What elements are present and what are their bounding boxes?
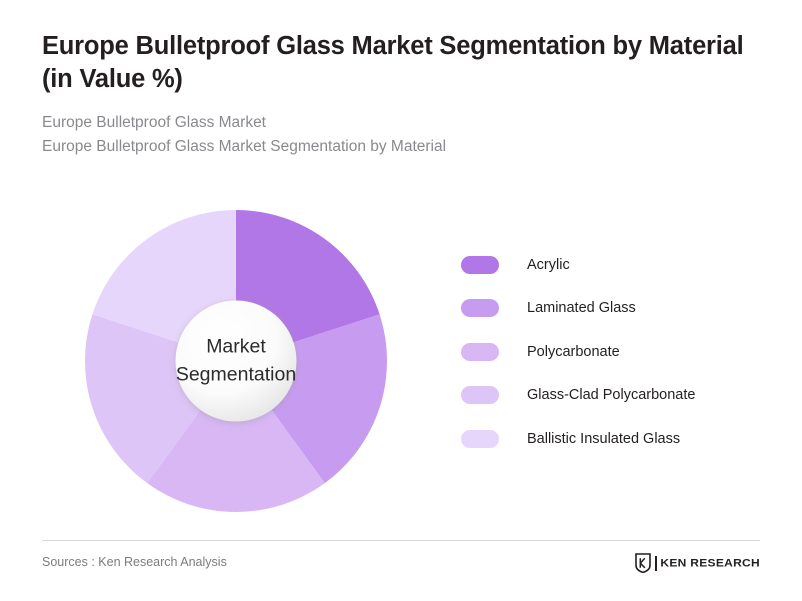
legend-label: Laminated Glass <box>527 300 636 316</box>
brand-divider <box>655 556 657 571</box>
legend-swatch <box>461 430 499 448</box>
chart-legend: AcrylicLaminated GlassPolycarbonateGlass… <box>461 243 771 461</box>
legend-label: Glass-Clad Polycarbonate <box>527 387 695 403</box>
donut-chart: Market Segmentation <box>84 209 388 513</box>
legend-item[interactable]: Laminated Glass <box>461 287 771 331</box>
legend-label: Acrylic <box>527 257 570 273</box>
footer-divider <box>42 540 760 541</box>
legend-item[interactable]: Polycarbonate <box>461 330 771 374</box>
donut-hole <box>176 301 297 422</box>
subtitle-block: Europe Bulletproof Glass Market Europe B… <box>42 111 772 159</box>
brand-name: KEN RESEARCH <box>660 557 760 570</box>
brand-logo: KEN RESEARCH <box>635 552 760 574</box>
chart-page: Europe Bulletproof Glass Market Segmenta… <box>0 0 802 601</box>
sources-text: Sources : Ken Research Analysis <box>42 555 227 569</box>
legend-item[interactable]: Ballistic Insulated Glass <box>461 417 771 461</box>
legend-swatch <box>461 343 499 361</box>
page-title: Europe Bulletproof Glass Market Segmenta… <box>42 30 772 95</box>
header: Europe Bulletproof Glass Market Segmenta… <box>42 30 772 159</box>
donut-svg <box>84 209 388 513</box>
legend-item[interactable]: Acrylic <box>461 243 771 287</box>
legend-item[interactable]: Glass-Clad Polycarbonate <box>461 374 771 418</box>
subtitle-line-2: Europe Bulletproof Glass Market Segmenta… <box>42 135 772 159</box>
shield-k-icon <box>635 553 651 573</box>
chart-area: Market Segmentation AcrylicLaminated Gla… <box>0 196 802 526</box>
legend-swatch <box>461 386 499 404</box>
legend-label: Polycarbonate <box>527 344 620 360</box>
subtitle-line-1: Europe Bulletproof Glass Market <box>42 111 772 135</box>
legend-label: Ballistic Insulated Glass <box>527 431 680 447</box>
legend-swatch <box>461 256 499 274</box>
footer: Sources : Ken Research Analysis KEN RESE… <box>42 552 760 580</box>
legend-swatch <box>461 299 499 317</box>
